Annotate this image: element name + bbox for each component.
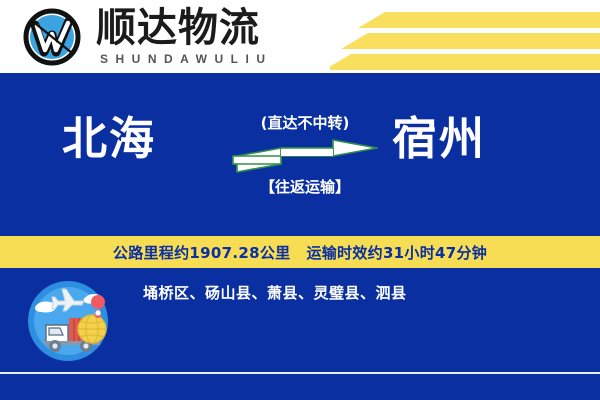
route-display-band: 北海 (直达不中转) 【往返运输】 宿州 <box>0 73 600 236</box>
circle-w-logo-icon <box>22 7 82 67</box>
duration-label: 运输时效约31小时47分钟 <box>306 242 487 263</box>
route-center-column: (直达不中转) 【往返运输】 <box>225 113 385 213</box>
brand-name-en: SHUNDAWULIU <box>100 52 273 66</box>
route-info-bar: 公路里程约1907.28公里 运输时效约31小时47分钟 <box>0 236 600 268</box>
truck-plane-globe-icon <box>22 275 114 367</box>
brand-name-cn: 顺达物流 <box>96 6 260 50</box>
destination-city-label: 宿州 <box>392 113 486 165</box>
coverage-section: 埇桥区、砀山县、萧县、灵璧县、泗县 <box>0 268 600 373</box>
direct-route-note: (直达不中转) <box>225 113 385 133</box>
distance-label: 公路里程约1907.28公里 <box>113 242 291 263</box>
logistics-route-banner: 顺达物流 SHUNDAWULIU 北海 (直达不中转) <box>0 0 600 400</box>
origin-city-label: 北海 <box>62 113 156 165</box>
district-list: 埇桥区、砀山县、萧县、灵璧县、泗县 <box>143 282 583 304</box>
bidirectional-arrow-icon <box>225 139 385 173</box>
yellow-diagonal-stripes-icon <box>330 0 600 73</box>
round-trip-note: 【往返运输】 <box>225 177 385 197</box>
header-bar: 顺达物流 SHUNDAWULIU <box>0 0 600 73</box>
footer-band <box>0 374 600 400</box>
